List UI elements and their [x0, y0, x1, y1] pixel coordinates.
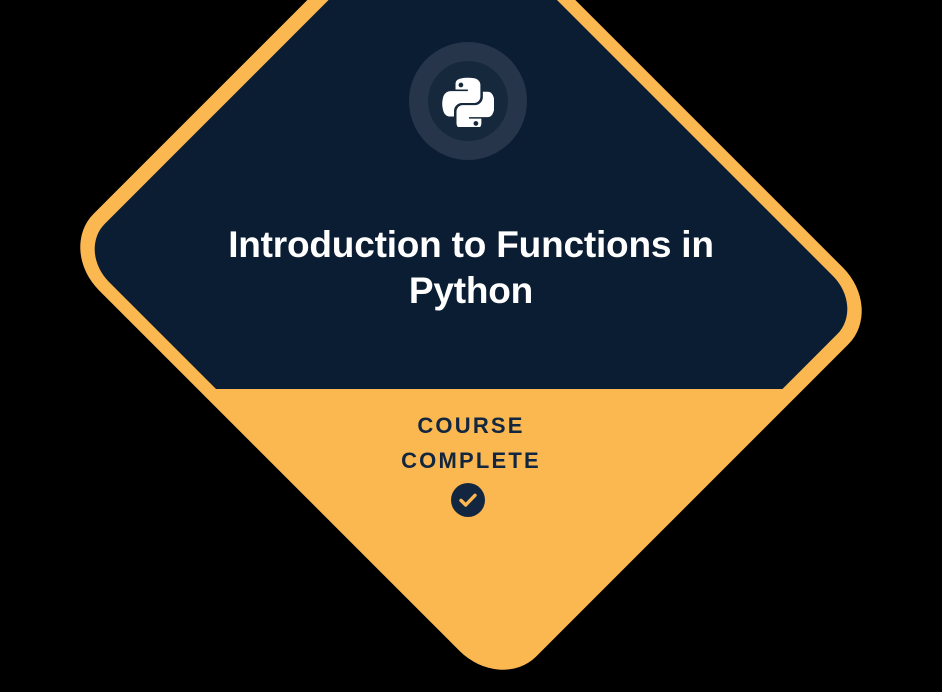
check-circle-icon [451, 483, 485, 517]
course-completion-badge: Introduction to Functions in Python COUR… [0, 0, 942, 567]
status-line-one: COURSE [271, 408, 671, 443]
python-logo-icon [442, 75, 494, 127]
completion-status-label: COURSE COMPLETE [271, 408, 671, 478]
course-title: Introduction to Functions in Python [171, 222, 771, 314]
status-line-two: COMPLETE [271, 443, 671, 478]
